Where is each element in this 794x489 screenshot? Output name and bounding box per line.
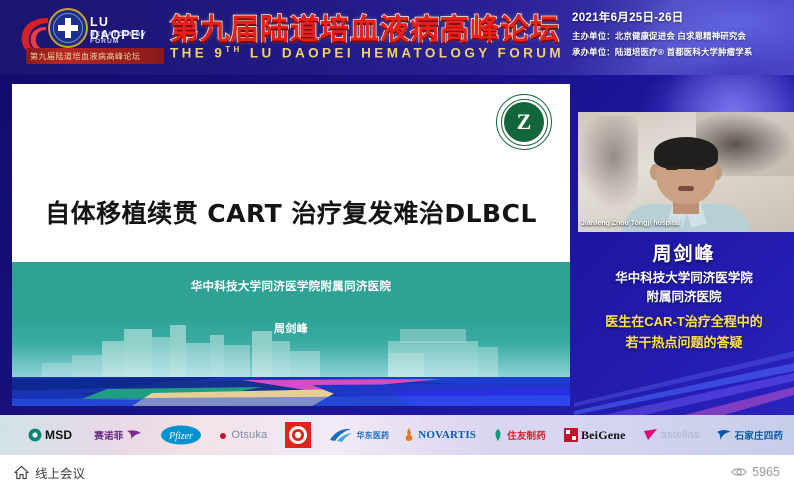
sponsor-pfizer: Pfizer xyxy=(160,425,202,445)
sponsor-beigene: BeiGene xyxy=(564,428,626,443)
beigene-square-icon xyxy=(564,428,578,442)
speaker-eye-right xyxy=(694,166,706,170)
speaker-brow-left xyxy=(665,161,678,164)
page-footer: 线上会议 5965 xyxy=(0,455,794,489)
speaker-affiliation: 华中科技大学同济医学院 附属同济医院 xyxy=(574,269,794,307)
eye-icon xyxy=(731,465,747,479)
novartis-flame-icon xyxy=(403,428,415,442)
speaker-name: 周剑峰 xyxy=(574,239,794,266)
speaker-eye-left xyxy=(666,166,678,170)
panel-streaks-decoration xyxy=(574,345,794,415)
view-count-indicator: 5965 xyxy=(731,465,780,479)
blue-wave-icon xyxy=(329,427,353,443)
banner-title-en: THE 9TH LU DAOPEI HEMATOLOGY FORUM xyxy=(170,45,564,61)
red-square-target-icon xyxy=(285,422,311,448)
stage-area: Z 自体移植续贯 CART 治疗复发难治DLBCL 华中科技大学同济医学院附属同… xyxy=(0,75,794,415)
slide-upper-white xyxy=(12,84,570,262)
video-background-shadow-2 xyxy=(578,116,638,208)
speaker-video-tile[interactable]: Jianfeng Zhou Tongji hospital xyxy=(578,112,794,232)
view-count-value: 5965 xyxy=(752,465,780,479)
event-organizer: 承办单位：陆道培医疗® 首都医科大学肿瘤学系 xyxy=(572,46,787,58)
sponsor-sjz-siyao: 石家庄四药 xyxy=(716,428,784,442)
sponsor-label: Otsuka xyxy=(231,429,267,441)
sponsor-label: NOVARTIS xyxy=(418,429,476,441)
speaker-mouth xyxy=(678,186,694,191)
sponsor-label: 华东医药 xyxy=(356,430,389,441)
event-meta: 2021年6月25日-26日 主办单位：北京健康促进会 白求恩精神研究会 承办单… xyxy=(572,9,787,62)
lu-daopei-logo: LU DAOPEI HEMATOLOGY FORUM 第九届陆道培血液病高峰论坛 xyxy=(18,4,166,70)
speaker-brow-right xyxy=(693,161,706,164)
sanofi-swirl-icon xyxy=(126,428,142,442)
slide-teal-band: 华中科技大学同济医学院附属同济医院 周剑峰 xyxy=(12,262,570,377)
logo-en-line2: HEMATOLOGY FORUM xyxy=(90,31,166,45)
live-stream-page: LU DAOPEI HEMATOLOGY FORUM 第九届陆道培血液病高峰论坛… xyxy=(0,0,794,489)
speaker-affiliation-line1: 华中科技大学同济医学院 xyxy=(574,269,794,288)
slide-title: 自体移植续贯 CART 治疗复发难治DLBCL xyxy=(12,194,570,230)
presentation-slide[interactable]: Z 自体移植续贯 CART 治疗复发难治DLBCL 华中科技大学同济医学院附属同… xyxy=(12,84,570,406)
banner-en-post: LU DAOPEI HEMATOLOGY FORUM xyxy=(243,46,564,61)
hospital-skyline-graphic xyxy=(12,315,570,377)
home-icon xyxy=(14,465,29,480)
event-host: 主办单位：北京健康促进会 白求恩精神研究会 xyxy=(572,30,787,42)
banner-en-pre: THE 9 xyxy=(170,46,225,61)
speaker-hair xyxy=(654,137,718,169)
sponsor-label: 石家庄四药 xyxy=(735,428,784,442)
siyao-swoosh-icon xyxy=(716,428,732,442)
sumitomo-leaf-icon xyxy=(492,428,504,442)
sponsor-label: astellas xyxy=(661,429,700,441)
banner-title-cn: 第九届陆道培血液病高峰论坛 xyxy=(170,6,560,48)
speaker-topic-line1: 医生在CAR-T治疗全程中的 xyxy=(574,311,794,332)
slide-organization: 华中科技大学同济医学院附属同济医院 xyxy=(12,278,570,294)
astellas-arrow-icon xyxy=(644,429,658,442)
event-header-banner: LU DAOPEI HEMATOLOGY FORUM 第九届陆道培血液病高峰论坛… xyxy=(0,0,794,75)
tongji-hospital-logo-icon: Z xyxy=(496,94,552,150)
svg-text:Pfizer: Pfizer xyxy=(168,431,193,442)
otsuka-dot-icon xyxy=(218,430,228,440)
msd-hex-icon xyxy=(28,428,42,442)
video-participant-label: Jianfeng Zhou Tongji hospital xyxy=(578,219,683,228)
pfizer-oval-icon: Pfizer xyxy=(160,425,202,445)
sponsor-label: MSD xyxy=(45,428,72,442)
sponsor-astellas: astellas xyxy=(644,429,700,442)
banner-en-sup: TH xyxy=(225,45,242,54)
slide-decorative-bands xyxy=(12,377,570,406)
sponsor-sumitomo: 住友制药 xyxy=(492,428,546,442)
footer-home-label: 线上会议 xyxy=(35,463,85,482)
forum-medallion-icon xyxy=(48,8,88,48)
sponsor-label: 赛诺菲 xyxy=(94,428,123,442)
sponsor-label: 住友制药 xyxy=(507,428,546,442)
sponsor-otsuka: Otsuka xyxy=(218,429,267,441)
speaker-affiliation-line2: 附属同济医院 xyxy=(574,288,794,307)
sponsor-sanofi: 赛诺菲 xyxy=(94,428,142,442)
sponsor-label: BeiGene xyxy=(581,428,626,443)
geometric-ribbons-graphic xyxy=(12,377,570,406)
logo-cn-strip: 第九届陆道培血液病高峰论坛 xyxy=(26,48,164,64)
sponsor-novartis: NOVARTIS xyxy=(403,428,476,442)
event-date: 2021年6月25日-26日 xyxy=(572,9,787,25)
footer-home-link[interactable]: 线上会议 xyxy=(14,463,85,482)
sponsor-logo-bar: MSD 赛诺菲 Pfizer Otsuka 华东医药 NOVARTIS 住友制药 xyxy=(0,415,794,455)
sponsor-huadong: 华东医药 xyxy=(329,427,389,443)
speaker-panel: Jianfeng Zhou Tongji hospital 周剑峰 华中科技大学… xyxy=(574,75,794,415)
sponsor-red-square xyxy=(285,422,311,448)
sponsor-msd: MSD xyxy=(28,428,72,442)
